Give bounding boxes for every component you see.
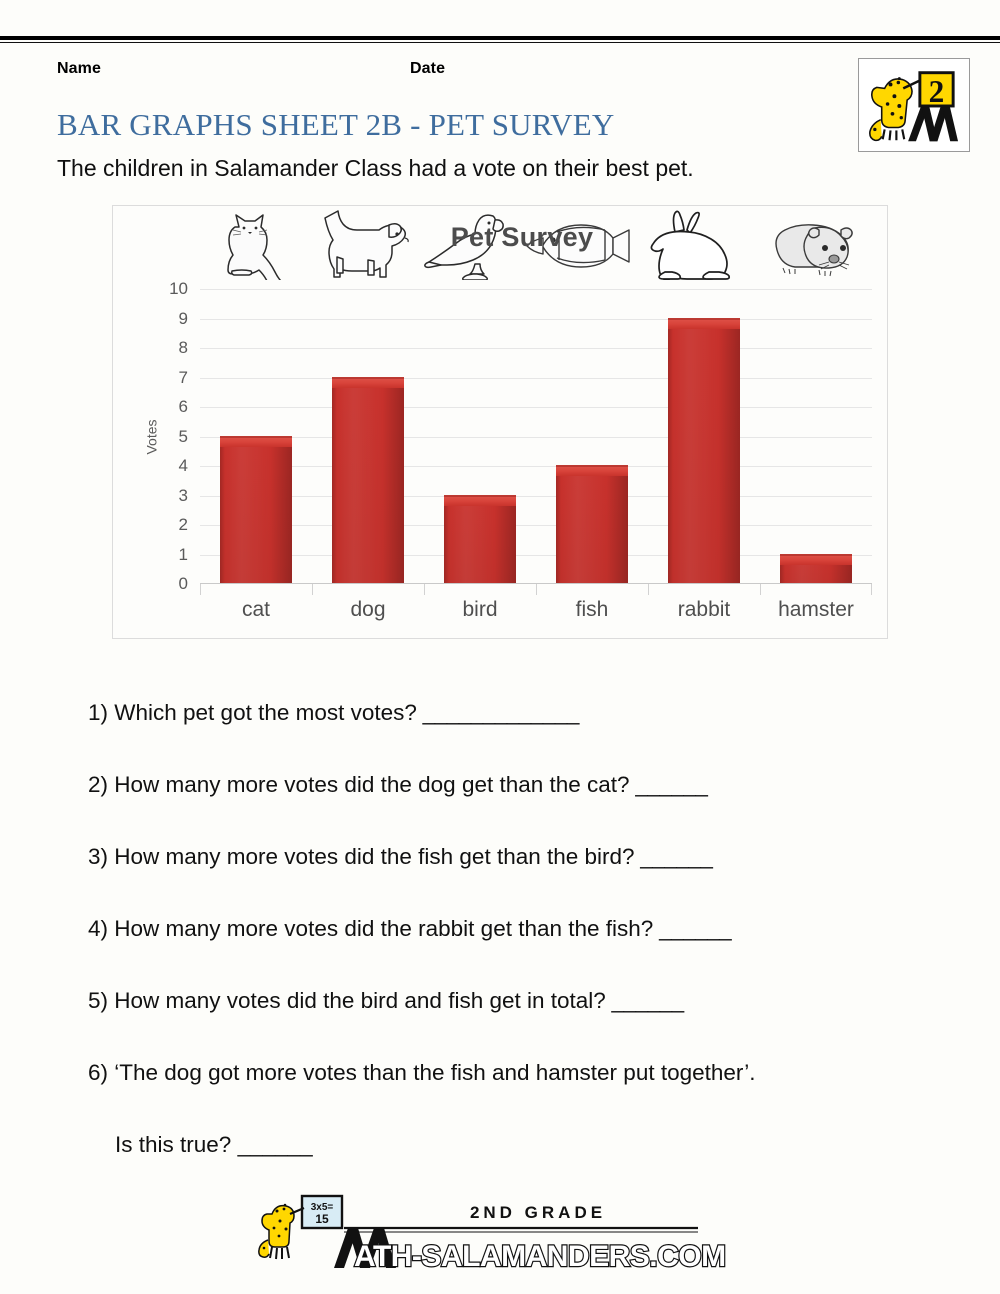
- x-label-cat: cat: [200, 598, 312, 622]
- y-tick-label: 1: [179, 545, 188, 565]
- question-number: 1): [88, 700, 114, 725]
- y-axis-label: Votes: [144, 419, 160, 454]
- y-tick-label: 2: [179, 515, 188, 535]
- bar-cap: [780, 554, 852, 565]
- question-number: 6): [88, 1060, 114, 1085]
- gridline: [200, 555, 872, 556]
- bar-bird: [444, 495, 516, 584]
- gridline: [200, 407, 872, 408]
- question-6-followup: Is this true? ______: [115, 1132, 313, 1158]
- bar-chart: Pet Survey Votes 109876543210 catdogbird…: [112, 205, 888, 639]
- y-tick-label: 3: [179, 486, 188, 506]
- x-label-rabbit: rabbit: [648, 598, 760, 622]
- footer-grade-text: 2ND GRADE: [470, 1203, 606, 1222]
- y-tick-label: 7: [179, 368, 188, 388]
- question-text: How many votes did the bird and fish get…: [114, 988, 606, 1013]
- bar-cap: [668, 318, 740, 329]
- answer-blank[interactable]: ______: [635, 844, 713, 869]
- bar-cat: [220, 436, 292, 584]
- x-label-dog: dog: [312, 598, 424, 622]
- bar-dog: [332, 377, 404, 584]
- question-text: ‘The dog got more votes than the fish an…: [114, 1060, 755, 1085]
- x-axis-tick: [536, 584, 537, 595]
- y-tick-label: 4: [179, 456, 188, 476]
- x-axis-tick: [200, 584, 201, 595]
- question-1: 1) Which pet got the most votes? _______…: [88, 700, 579, 726]
- answer-blank[interactable]: ______: [653, 916, 731, 941]
- x-label-bird: bird: [424, 598, 536, 622]
- y-tick-label: 10: [169, 279, 188, 299]
- x-axis-tick: [312, 584, 313, 595]
- question-3: 3) How many more votes did the fish get …: [88, 844, 712, 870]
- header-divider-rule: [0, 36, 1000, 40]
- x-axis-tick: [648, 584, 649, 595]
- question-4: 4) How many more votes did the rabbit ge…: [88, 916, 731, 942]
- gridline: [200, 466, 872, 467]
- gridline: [200, 378, 872, 379]
- date-field-label: Date: [410, 60, 445, 78]
- bar-cap: [444, 495, 516, 506]
- y-tick-label: 9: [179, 309, 188, 329]
- question-text: How many more votes did the rabbit get t…: [114, 916, 653, 941]
- question-number: 4): [88, 916, 114, 941]
- gridline: [200, 289, 872, 290]
- question-text: Which pet got the most votes?: [114, 700, 417, 725]
- y-tick-label: 6: [179, 397, 188, 417]
- gridline: [200, 319, 872, 320]
- question-text: How many more votes did the fish get tha…: [114, 844, 634, 869]
- worksheet-page: Name Date 2: [0, 0, 1000, 1294]
- plot-area: Votes 109876543210: [200, 289, 872, 584]
- y-tick-label: 0: [179, 574, 188, 594]
- chart-title: Pet Survey: [113, 222, 887, 253]
- x-axis-tick: [871, 584, 872, 595]
- gridline: [200, 496, 872, 497]
- question-number: 5): [88, 988, 114, 1013]
- grade-badge-icon: 2: [859, 59, 969, 151]
- bar-cap: [556, 465, 628, 476]
- gridline: [200, 437, 872, 438]
- question-6: 6) ‘The dog got more votes than the fish…: [88, 1060, 755, 1086]
- x-axis-tick: [424, 584, 425, 595]
- bar-cap: [220, 436, 292, 447]
- question-number: 2): [88, 772, 114, 797]
- bar-cap: [332, 377, 404, 388]
- x-label-hamster: hamster: [760, 598, 872, 622]
- page-subtitle: The children in Salamander Class had a v…: [57, 155, 694, 182]
- followup-text: Is this true?: [115, 1132, 231, 1157]
- question-5: 5) How many votes did the bird and fish …: [88, 988, 684, 1014]
- bar-hamster: [780, 554, 852, 584]
- gridline: [200, 348, 872, 349]
- page-title: BAR GRAPHS SHEET 2B - PET SURVEY: [57, 107, 614, 143]
- question-text: How many more votes did the dog get than…: [114, 772, 629, 797]
- answer-blank[interactable]: ______: [630, 772, 708, 797]
- gridline: [200, 525, 872, 526]
- footer-site-text: ATH-SALAMANDERS.COM: [354, 1240, 726, 1273]
- y-tick-label: 8: [179, 338, 188, 358]
- bar-fish: [556, 465, 628, 583]
- x-axis-tick: [760, 584, 761, 595]
- site-footer-logo: 3x5= 15: [258, 1192, 728, 1274]
- y-tick-label: 5: [179, 427, 188, 447]
- grade-badge-logo: 2: [858, 58, 970, 152]
- x-label-fish: fish: [536, 598, 648, 622]
- x-axis-segments: [200, 584, 872, 596]
- name-field-label: Name: [57, 60, 101, 78]
- answer-blank[interactable]: _____________: [417, 700, 579, 725]
- x-axis-labels: catdogbirdfishrabbithamster: [200, 598, 872, 632]
- bar-rabbit: [668, 318, 740, 584]
- question-number: 3): [88, 844, 114, 869]
- answer-blank[interactable]: ______: [606, 988, 684, 1013]
- grade-number-text: 2: [929, 74, 945, 109]
- answer-blank[interactable]: ______: [231, 1132, 312, 1157]
- whiteboard-text-bottom: 15: [315, 1212, 329, 1226]
- question-2: 2) How many more votes did the dog get t…: [88, 772, 707, 798]
